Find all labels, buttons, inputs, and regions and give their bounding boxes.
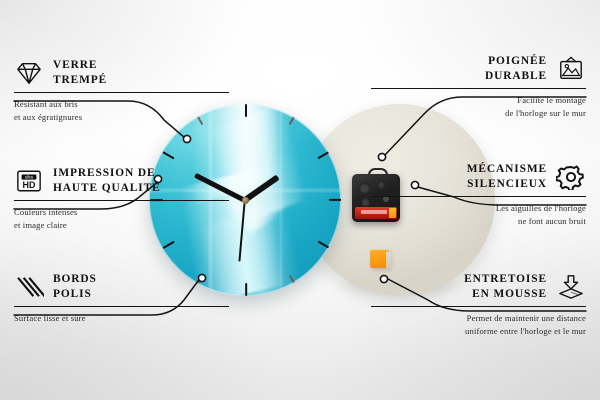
clock-hour-marker bbox=[245, 200, 247, 296]
clock-hour-marker bbox=[245, 116, 295, 200]
feature-header: BORDS POLIS bbox=[14, 272, 229, 302]
feature-title: VERRE TREMPÉ bbox=[53, 58, 107, 88]
feature-divider bbox=[14, 306, 229, 307]
feature-entretoise-en-mousse[interactable]: ENTRETOISE EN MOUSSE Permet de maintenir… bbox=[371, 272, 586, 337]
feature-subtitle: Surface lisse et sûre bbox=[14, 312, 229, 324]
feature-header: MÉCANISME SILENCIEUX bbox=[371, 162, 586, 192]
feature-verre-trempe[interactable]: VERRE TREMPÉ Résistant aux bris et aux é… bbox=[14, 58, 229, 123]
feature-subtitle: Facilite le montage de l'horloge sur le … bbox=[371, 94, 586, 118]
feature-header: ultra HD IMPRESSION DE HAUTE QUALITÉ bbox=[14, 166, 229, 196]
marker-bar bbox=[317, 151, 329, 159]
feature-header: POIGNÉE DURABLE bbox=[371, 54, 586, 84]
feature-header: ENTRETOISE EN MOUSSE bbox=[371, 272, 586, 302]
feature-mecanisme-silencieux[interactable]: MÉCANISME SILENCIEUX Les aiguilles de l'… bbox=[371, 162, 586, 227]
marker-bar bbox=[289, 116, 295, 125]
mechanism-dial bbox=[359, 183, 370, 194]
marker-bar bbox=[317, 241, 329, 249]
feature-poignee-durable[interactable]: POIGNÉE DURABLE Facilite le montage de l… bbox=[371, 54, 586, 119]
feature-subtitle: Permet de maintenir une distance uniform… bbox=[371, 312, 586, 336]
marker-bar bbox=[162, 151, 174, 159]
marker-bar bbox=[245, 104, 247, 117]
feature-subtitle: Couleurs intenses et image claire bbox=[14, 206, 229, 230]
infographic-canvas: VERRE TREMPÉ Résistant aux bris et aux é… bbox=[0, 0, 600, 400]
feature-title: MÉCANISME SILENCIEUX bbox=[467, 162, 547, 192]
marker-bar bbox=[162, 241, 174, 249]
clock-hour-marker bbox=[245, 104, 247, 200]
polished-edges-icon bbox=[14, 274, 44, 300]
ultra-hd-icon: ultra HD bbox=[14, 168, 44, 194]
clock-center-cap bbox=[242, 197, 249, 204]
marker-bar bbox=[289, 275, 295, 284]
feature-divider bbox=[14, 200, 229, 201]
marker-bar bbox=[329, 199, 341, 201]
feature-header: VERRE TREMPÉ bbox=[14, 58, 229, 88]
feature-divider bbox=[371, 196, 586, 197]
mechanism-dial bbox=[361, 198, 370, 207]
foam-spacer-icon bbox=[556, 274, 586, 300]
diamond-icon bbox=[14, 60, 44, 86]
feature-divider bbox=[371, 88, 586, 89]
clock-hour-marker bbox=[246, 199, 341, 201]
wall-hanger-icon bbox=[556, 56, 586, 82]
feature-bords-polis[interactable]: BORDS POLIS Surface lisse et sûre bbox=[14, 272, 229, 325]
feature-title: BORDS POLIS bbox=[53, 272, 97, 302]
feature-title: POIGNÉE DURABLE bbox=[485, 54, 547, 84]
gear-icon bbox=[556, 164, 586, 190]
foam-spacer bbox=[370, 250, 389, 268]
feature-divider bbox=[371, 306, 586, 307]
feature-title: IMPRESSION DE HAUTE QUALITÉ bbox=[53, 166, 161, 196]
feature-divider bbox=[14, 92, 229, 93]
svg-text:HD: HD bbox=[23, 180, 36, 190]
feature-title: ENTRETOISE EN MOUSSE bbox=[464, 272, 547, 302]
feature-impression-haute-qualite[interactable]: ultra HD IMPRESSION DE HAUTE QUALITÉ Cou… bbox=[14, 166, 229, 231]
feature-subtitle: Résistant aux bris et aux égratignures bbox=[14, 98, 229, 122]
marker-bar bbox=[245, 283, 247, 296]
feature-subtitle: Les aiguilles de l'horloge ne font aucun… bbox=[371, 202, 586, 226]
svg-text:ultra: ultra bbox=[25, 175, 34, 180]
